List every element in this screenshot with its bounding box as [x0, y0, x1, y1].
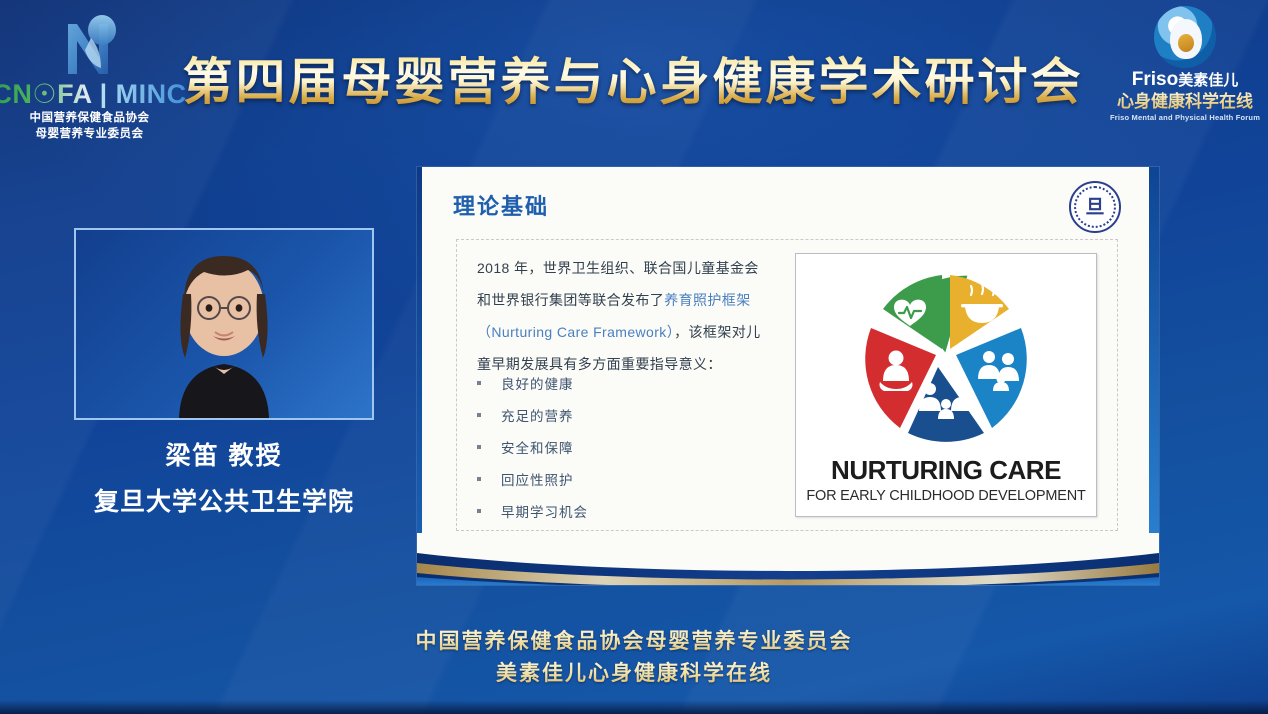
speaker-name: 梁笛 教授 [74, 436, 374, 472]
nurturing-care-figure: NURTURING CARE FOR EARLY CHILDHOOD DEVEL… [795, 253, 1097, 517]
sponsor-logo: Friso美素佳儿 心身健康科学在线 Friso Mental and Phys… [1110, 6, 1260, 140]
association-name-line1: 中国营养保健食品协会 [30, 111, 150, 126]
association-name-line2: 母婴营养专业委员会 [36, 127, 144, 142]
slide-right-accent-bar [1149, 167, 1159, 585]
association-wordmark: CN☉FA | MINC [0, 81, 187, 108]
bullet-label: 充足的营养 [501, 405, 574, 425]
speaker-photo [74, 228, 374, 420]
list-item: 充足的营养 [477, 399, 737, 431]
friso-emblem-icon [1154, 6, 1216, 68]
sponsor-slogan-en: Friso Mental and Physical Health Forum [1110, 113, 1260, 122]
sponsor-slogan-cn: 心身健康科学在线 [1117, 92, 1253, 112]
bullet-dot-icon [477, 445, 481, 449]
bullet-dot-icon [477, 509, 481, 513]
list-item: 良好的健康 [477, 367, 737, 399]
slide-left-accent-bar [417, 167, 422, 585]
nurturing-care-subtitle: FOR EARLY CHILDHOOD DEVELOPMENT [796, 488, 1096, 504]
bullet-label: 良好的健康 [501, 373, 574, 393]
speaker-portrait-illustration [139, 232, 309, 418]
bullet-dot-icon [477, 413, 481, 417]
bullet-dot-icon [477, 477, 481, 481]
sponsor-brand: Friso美素佳儿 [1132, 70, 1238, 91]
page-footer: 中国营养保健食品协会母婴营养专业委员会 美素佳儿心身健康科学在线 [0, 626, 1268, 689]
bullet-dot-icon [477, 381, 481, 385]
header-banner: CN☉FA | MINC 中国营养保健食品协会 母婴营养专业委员会 第四届母婴营… [0, 0, 1268, 148]
association-logo-mark [44, 8, 136, 80]
slide-bullet-list: 良好的健康 充足的营养 安全和保障 回应性照护 早期学习机会 [477, 367, 737, 527]
slide-title: 理论基础 [453, 189, 549, 221]
speaker-block: 梁笛 教授 复旦大学公共卫生学院 [74, 228, 374, 518]
event-title: 第四届母婴营养与心身健康学术研讨会 [178, 45, 1088, 111]
list-item: 安全和保障 [477, 431, 737, 463]
nurturing-care-wheel-icon [841, 264, 1051, 454]
university-seal-icon: 旦 [1069, 181, 1121, 233]
bullet-label: 回应性照护 [501, 469, 574, 489]
sponsor-brand-cn: 美素佳儿 [1178, 72, 1238, 89]
list-item: 早期学习机会 [477, 495, 737, 527]
slide-paragraph: 2018 年，世界卫生组织、联合国儿童基金会和世界银行集团等联合发布了养育照护框… [477, 253, 767, 381]
association-logo: CN☉FA | MINC 中国营养保健食品协会 母婴营养专业委员会 [12, 8, 167, 136]
list-item: 回应性照护 [477, 463, 737, 495]
footer-line-1: 中国营养保健食品协会母婴营养专业委员会 [0, 626, 1268, 658]
slide-footer-decoration [417, 533, 1159, 585]
nurturing-care-title: NURTURING CARE [796, 455, 1096, 486]
speaker-affiliation: 复旦大学公共卫生学院 [74, 482, 374, 518]
bullet-label: 安全和保障 [501, 437, 574, 457]
university-seal-text: 旦 [1085, 198, 1104, 217]
footer-line-2: 美素佳儿心身健康科学在线 [0, 658, 1268, 690]
presentation-slide[interactable]: 理论基础 旦 2018 年，世界卫生组织、联合国儿童基金会和世界银行集团等联合发… [417, 167, 1159, 585]
bullet-label: 早期学习机会 [501, 501, 588, 521]
sponsor-brand-en: Friso [1132, 69, 1178, 90]
